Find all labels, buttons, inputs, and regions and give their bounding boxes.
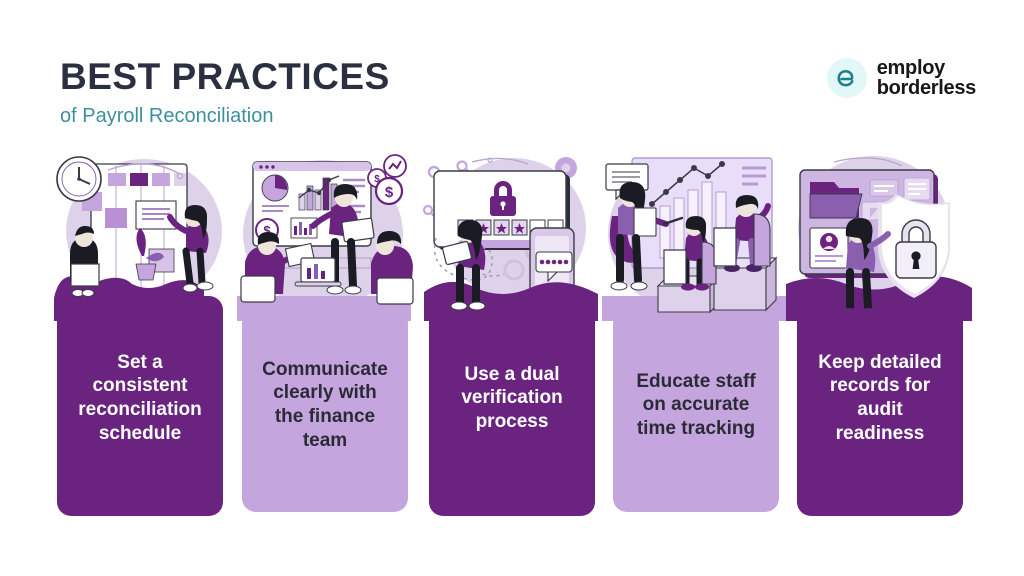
page-subtitle: of Payroll Reconciliation (60, 105, 390, 127)
infographic-canvas: BEST PRACTICES of Payroll Reconciliation… (0, 0, 1024, 576)
brand-logo[interactable]: employ borderless (827, 58, 976, 99)
practice-card-2-text: Communicate clearly with the finance tea… (260, 358, 390, 452)
calendar-schedule-illustration (46, 146, 232, 321)
two-factor-verification-illustration (418, 146, 604, 321)
practice-column-3[interactable]: Use a dual verification process (418, 146, 604, 526)
practice-column-1[interactable]: Set a consistent reconciliation schedule (46, 146, 232, 526)
practice-column-4[interactable]: Educate staff on accurate time tracking (602, 146, 788, 526)
practice-card-3-text: Use a dual verification process (459, 363, 564, 434)
brand-logo-line1: employ (877, 58, 976, 78)
finance-team-meeting-illustration: $ $ $ (231, 146, 417, 321)
title-block: BEST PRACTICES of Payroll Reconciliation (60, 58, 390, 127)
secure-records-illustration (786, 146, 972, 321)
practice-card-4-text: Educate staff on accurate time tracking (634, 370, 757, 441)
staff-training-illustration (602, 146, 788, 321)
header: BEST PRACTICES of Payroll Reconciliation… (0, 0, 1024, 150)
practice-column-2[interactable]: Communicate clearly with the finance tea… (231, 146, 417, 526)
practice-card-5[interactable]: Keep detailed records for audit readines… (797, 296, 963, 516)
brand-logo-text: employ borderless (877, 58, 976, 99)
practice-card-4[interactable]: Educate staff on accurate time tracking (613, 310, 779, 512)
practice-card-5-text: Keep detailed records for audit readines… (816, 351, 944, 445)
practice-card-1-text: Set a consistent reconciliation schedule (76, 351, 204, 445)
practice-card-1[interactable]: Set a consistent reconciliation schedule (57, 296, 223, 516)
practice-card-3[interactable]: Use a dual verification process (429, 296, 595, 516)
practice-columns: Set a consistent reconciliation schedule (0, 146, 1024, 526)
practice-column-5[interactable]: Keep detailed records for audit readines… (786, 146, 972, 526)
employ-e-icon (827, 58, 867, 98)
brand-logo-line2: borderless (877, 78, 976, 98)
practice-card-2[interactable]: Communicate clearly with the finance tea… (242, 310, 408, 512)
svg-text:$: $ (385, 184, 394, 201)
page-title: BEST PRACTICES (60, 58, 390, 97)
